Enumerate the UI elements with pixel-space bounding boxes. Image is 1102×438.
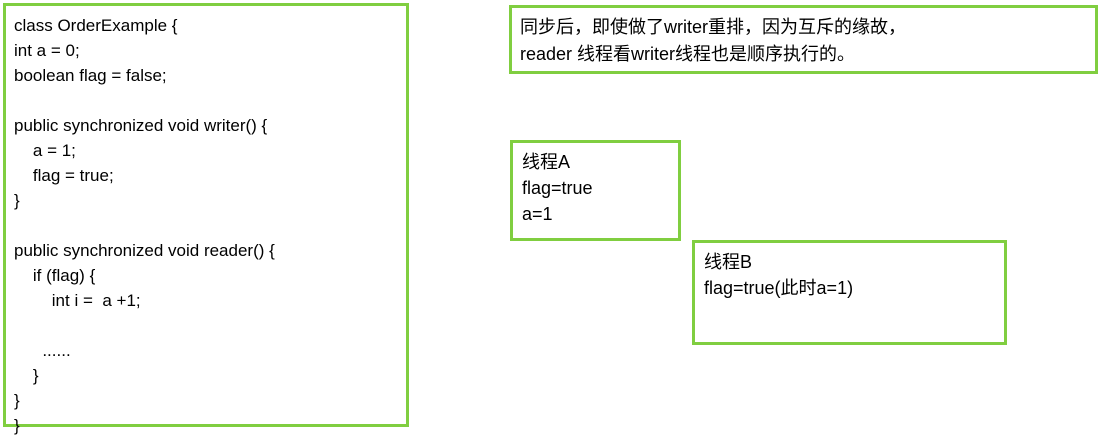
thread-a-box: 线程A flag=true a=1 bbox=[510, 140, 681, 241]
note-line: reader 线程看writer线程也是顺序执行的。 bbox=[520, 41, 1087, 68]
code-line-blank bbox=[14, 213, 400, 238]
thread-a-title: 线程A bbox=[522, 149, 678, 175]
code-line-blank bbox=[14, 313, 400, 338]
thread-a-state-a: a=1 bbox=[522, 201, 678, 227]
note-line: 同步后，即使做了writer重排，因为互斥的缘故， bbox=[520, 14, 1087, 41]
code-line-blank bbox=[14, 88, 400, 113]
code-line: public synchronized void reader() { bbox=[14, 238, 400, 263]
code-line: int i = a +1; bbox=[14, 288, 400, 313]
code-line: flag = true; bbox=[14, 163, 400, 188]
explanation-note-box: 同步后，即使做了writer重排，因为互斥的缘故， reader 线程看writ… bbox=[509, 5, 1098, 74]
thread-a-state-flag: flag=true bbox=[522, 175, 678, 201]
code-line: } bbox=[14, 188, 400, 213]
thread-b-state-flag: flag=true(此时a=1) bbox=[704, 275, 1004, 301]
code-line: if (flag) { bbox=[14, 263, 400, 288]
code-line: } bbox=[14, 363, 400, 388]
code-line: public synchronized void writer() { bbox=[14, 113, 400, 138]
code-panel: class OrderExample { int a = 0; boolean … bbox=[3, 3, 409, 427]
code-line: } bbox=[14, 413, 400, 438]
thread-b-title: 线程B bbox=[704, 249, 1004, 275]
thread-b-box: 线程B flag=true(此时a=1) bbox=[692, 240, 1007, 345]
code-line: int a = 0; bbox=[14, 38, 400, 63]
code-line: ...... bbox=[14, 338, 400, 363]
code-line: boolean flag = false; bbox=[14, 63, 400, 88]
code-line: a = 1; bbox=[14, 138, 400, 163]
code-line: } bbox=[14, 388, 400, 413]
code-line: class OrderExample { bbox=[14, 13, 400, 38]
